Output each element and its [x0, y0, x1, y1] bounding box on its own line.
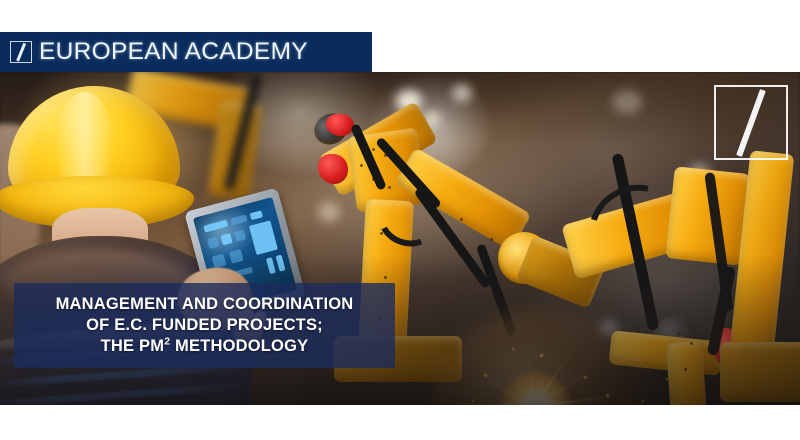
title-line-3-prefix: THE PM [101, 337, 165, 355]
banner-root: EUROPEAN ACADEMY MANAGEMENT AND COORDINA… [0, 0, 800, 440]
slash-glyph [16, 43, 26, 62]
watermark-slash-in-square-icon [714, 85, 788, 160]
title-line-3-suffix: METHODOLOGY [170, 337, 308, 355]
slash-glyph [736, 89, 766, 157]
brand-title: EUROPEAN ACADEMY [39, 40, 308, 65]
bottom-margin [0, 405, 800, 440]
title-line-2: OF E.C. FUNDED PROJECTS; [86, 315, 323, 336]
title-line-1: MANAGEMENT AND COORDINATION [56, 294, 354, 315]
title-panel: MANAGEMENT AND COORDINATION OF E.C. FUND… [14, 283, 395, 368]
header-bar: EUROPEAN ACADEMY [0, 32, 372, 72]
title-line-3: THE PM2 METHODOLOGY [101, 336, 309, 357]
slash-in-square-icon [10, 41, 32, 63]
top-margin [0, 0, 800, 32]
